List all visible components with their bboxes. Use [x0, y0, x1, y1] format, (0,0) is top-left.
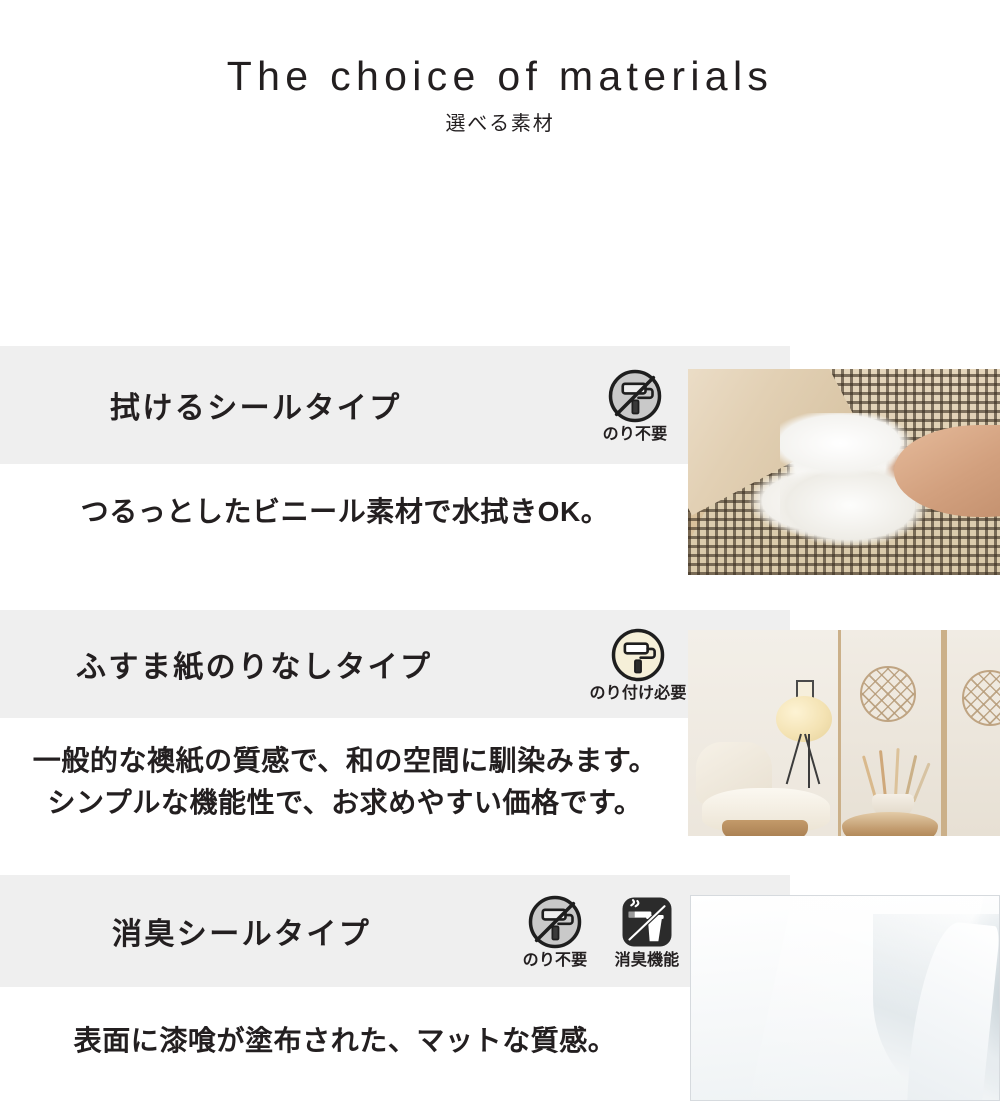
- deodorizing-function-icon: [619, 894, 675, 950]
- section-1-title: 拭けるシールタイプ: [110, 383, 402, 427]
- badge-deodorizing-label: 消臭機能: [615, 953, 680, 969]
- section-2-badges: のり付け必要: [588, 627, 688, 702]
- badge-no-glue: のり不要: [596, 368, 674, 443]
- chair-base: [722, 820, 808, 836]
- side-table: [842, 812, 938, 836]
- section-2-description-line-2: シンプルな機能性で、お求めやすい価格です。: [0, 782, 690, 823]
- section-2-title: ふすま紙のりなしタイプ: [76, 642, 432, 686]
- section-1-description: つるっとしたビニール素材で水拭きOK。: [0, 491, 690, 532]
- page-title: The choice of materials: [0, 52, 1000, 101]
- section-2-description: 一般的な襖紙の質感で、和の空間に馴染みます。 シンプルな機能性で、お求めやすい価…: [0, 740, 690, 823]
- glue-required-roller-icon: [610, 627, 666, 683]
- section-2-description-line-1: 一般的な襖紙の質感で、和の空間に馴染みます。: [0, 740, 690, 781]
- section-1-description-line-1: つるっとしたビニール素材で水拭きOK。: [0, 491, 690, 532]
- no-glue-roller-icon: [527, 894, 583, 950]
- photo-white-curling-sheet: [690, 895, 1000, 1101]
- badge-no-glue: のり不要: [516, 894, 594, 969]
- badge-deodorizing: 消臭機能: [608, 894, 686, 969]
- photo-wiping-rattan-surface: [688, 369, 1000, 575]
- badge-no-glue-label: のり不要: [603, 427, 668, 443]
- page-subtitle: 選べる素材: [0, 112, 1000, 136]
- photo-japanese-interior-fusuma: [688, 630, 1000, 836]
- section-3-description: 表面に漆喰が塗布された、マットな質感。: [0, 1020, 690, 1061]
- section-2-title-band: ふすま紙のりなしタイプ のり付け必要: [0, 610, 790, 718]
- no-glue-roller-icon: [607, 368, 663, 424]
- badge-glue-required-label: のり付け必要: [590, 686, 687, 702]
- section-3-badges: のり不要 消臭機能: [516, 894, 686, 969]
- badge-glue-required: のり付け必要: [588, 627, 688, 702]
- fusuma-panel-right: [944, 630, 1000, 836]
- page-header: The choice of materials 選べる素材: [0, 0, 1000, 136]
- lamp-leg-3: [808, 734, 810, 788]
- section-3-title-band: 消臭シールタイプ のり不要: [0, 875, 790, 987]
- section-3-description-line-1: 表面に漆喰が塗布された、マットな質感。: [0, 1020, 690, 1061]
- section-1-title-band: 拭けるシールタイプ のり不要: [0, 346, 790, 464]
- lattice-circle-left: [860, 666, 916, 722]
- section-3-title: 消臭シールタイプ: [112, 909, 371, 953]
- badge-no-glue-label: のり不要: [523, 953, 588, 969]
- section-1-badges: のり不要: [596, 368, 674, 443]
